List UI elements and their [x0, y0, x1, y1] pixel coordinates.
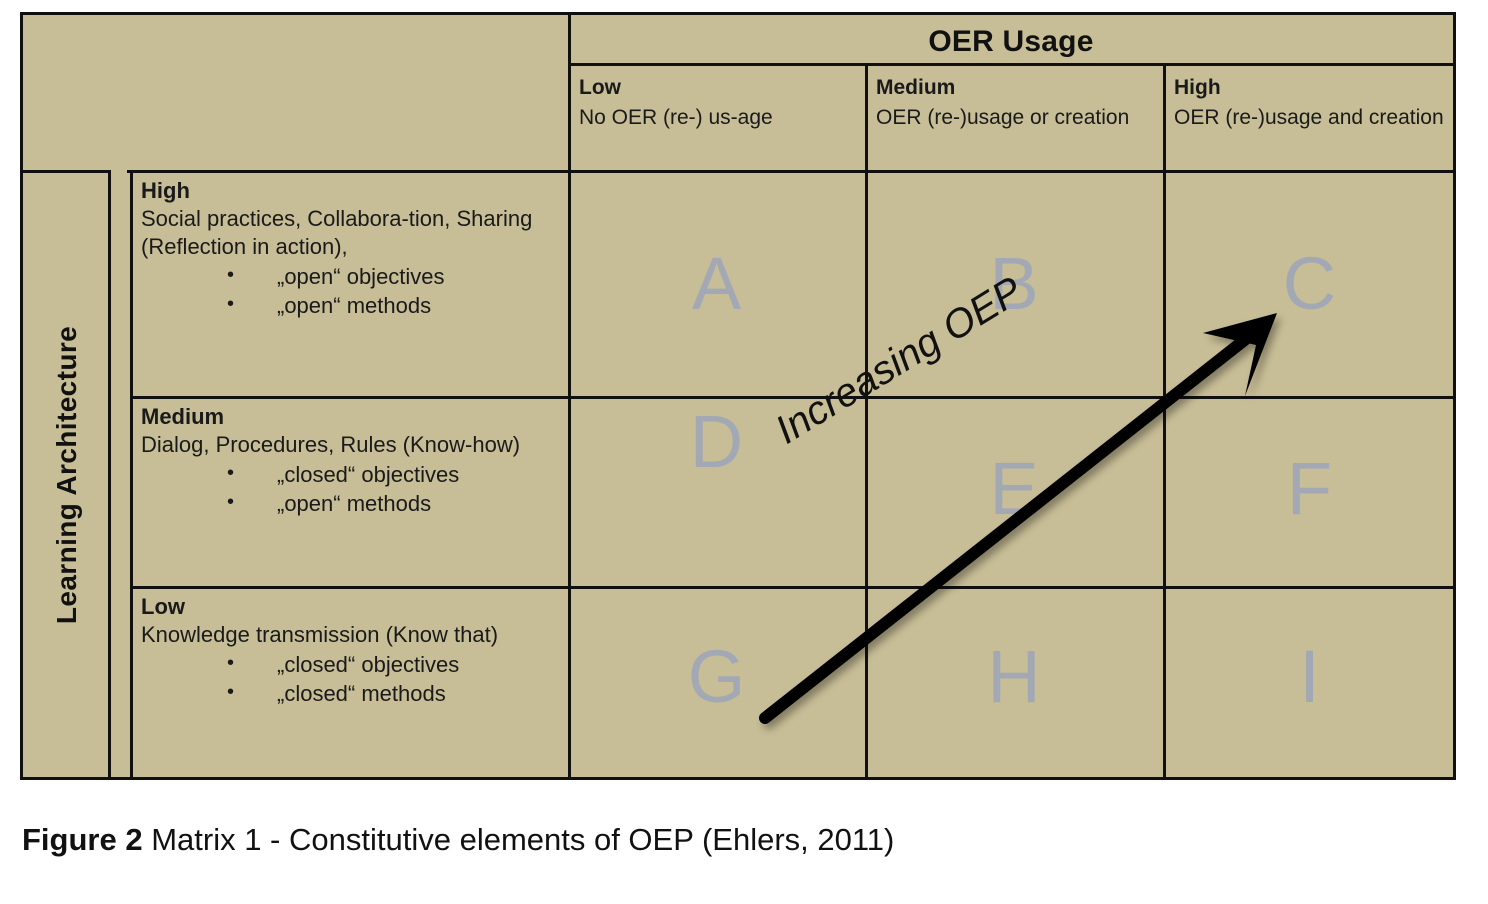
column-header-medium-desc: OER (re-)usage or creation	[876, 103, 1155, 133]
column-header-medium: Medium OER (re-)usage or creation	[868, 73, 1163, 171]
row-header-low-desc: Knowledge transmission (Know that)	[141, 621, 564, 649]
row-header-low: Low Knowledge transmission (Know that) „…	[133, 589, 570, 780]
row-header-medium-bullets: „closed“ objectives „open“ methods	[141, 461, 564, 518]
column-header-medium-level: Medium	[876, 73, 1155, 103]
column-header-high-level: High	[1174, 73, 1448, 103]
column-header-low-level: Low	[579, 73, 857, 103]
row-header-high-desc: Social practices, Collabora-tion, Sharin…	[141, 205, 564, 261]
column-axis-title: OER Usage	[571, 21, 1451, 63]
matrix-cell-F: F	[1163, 452, 1456, 526]
column-header-low-desc: No OER (re-) us-age	[579, 103, 857, 133]
column-header-high: High OER (re-)usage and creation	[1166, 73, 1456, 171]
figure-number: Figure 2	[22, 822, 143, 857]
row-axis-title-text: Learning Architecture	[52, 326, 84, 624]
matrix-cell-H: H	[865, 640, 1163, 714]
figure-container: OER Usage Low No OER (re-) us-age Medium…	[0, 0, 1488, 904]
matrix-cell-A: A	[568, 247, 865, 321]
row-axis-title: Learning Architecture	[25, 170, 110, 780]
list-item: „closed“ methods	[227, 680, 564, 709]
oep-matrix-table: OER Usage Low No OER (re-) us-age Medium…	[20, 12, 1456, 780]
matrix-cell-C: C	[1163, 247, 1456, 321]
list-item: „open“ methods	[227, 292, 564, 321]
grid-hline-header	[568, 63, 1456, 66]
row-header-low-level: Low	[141, 593, 564, 621]
matrix-cell-E: E	[865, 452, 1163, 526]
figure-caption-text: Matrix 1 - Constitutive elements of OEP …	[143, 822, 895, 857]
row-header-medium-level: Medium	[141, 403, 564, 431]
row-header-high: High Social practices, Collabora-tion, S…	[133, 173, 570, 396]
column-header-high-desc: OER (re-)usage and creation	[1174, 103, 1448, 133]
row-header-high-bullets: „open“ objectives „open“ methods	[141, 263, 564, 320]
matrix-cell-G: G	[568, 640, 865, 714]
list-item: „closed“ objectives	[227, 651, 564, 680]
list-item: „closed“ objectives	[227, 461, 564, 490]
row-header-medium-desc: Dialog, Procedures, Rules (Know-how)	[141, 431, 564, 459]
row-header-low-bullets: „closed“ objectives „closed“ methods	[141, 651, 564, 708]
figure-caption: Figure 2 Matrix 1 - Constitutive element…	[22, 822, 894, 858]
list-item: „open“ objectives	[227, 263, 564, 292]
row-header-high-level: High	[141, 177, 564, 205]
column-header-low: Low No OER (re-) us-age	[571, 73, 865, 171]
matrix-cell-I: I	[1163, 640, 1456, 714]
row-header-medium: Medium Dialog, Procedures, Rules (Know-h…	[133, 399, 570, 586]
list-item: „open“ methods	[227, 490, 564, 519]
